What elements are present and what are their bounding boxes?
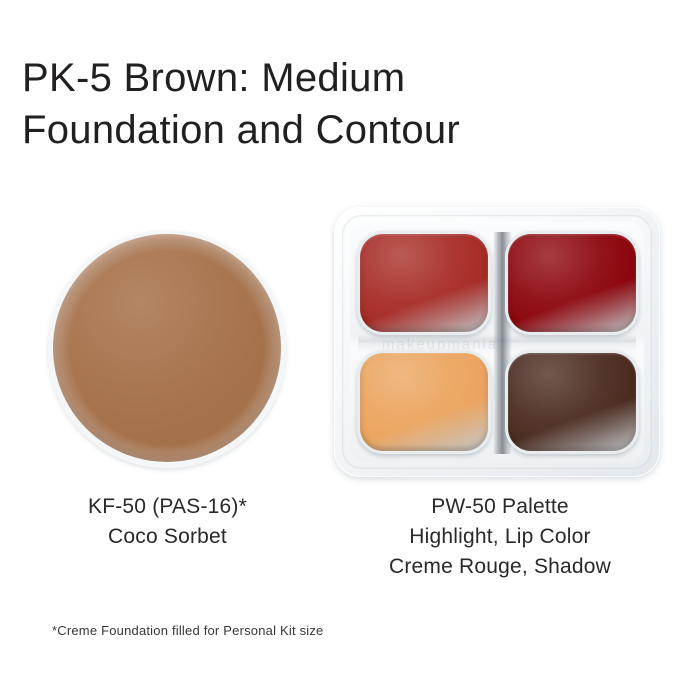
footnote: *Creme Foundation filled for Personal Ki… [52,623,324,638]
foundation-pan-product [53,234,281,462]
palette-pan-shadow [505,350,639,454]
palette-pan-color-top-right [508,234,636,332]
palette-pan-lip-color [505,231,639,335]
palette-caption-line-2: Highlight, Lip Color [330,522,670,552]
palette-caption-line-1: PW-50 Palette [330,492,670,522]
palette-pan-color-bottom-right [508,353,636,451]
palette-pan-color-top-left [360,234,488,332]
product-info-card: PK-5 Brown: Medium Foundation and Contou… [0,0,679,679]
foundation-pan-image [48,230,286,468]
foundation-caption-line-2: Coco Sorbet [10,522,325,552]
palette-tray: makeupmania [350,222,644,462]
palette-pan-highlight [357,350,491,454]
product-images-row: makeupmania [0,200,679,480]
foundation-caption: KF-50 (PAS-16)* Coco Sorbet [10,492,325,552]
palette-pan-color-bottom-left [360,353,488,451]
palette-image: makeupmania [334,207,660,477]
page-title-line-2: Foundation and Contour [22,104,642,156]
palette-caption-line-3: Creme Rouge, Shadow [330,552,670,582]
page-title: PK-5 Brown: Medium Foundation and Contou… [22,52,642,156]
foundation-caption-line-1: KF-50 (PAS-16)* [10,492,325,522]
palette-caption: PW-50 Palette Highlight, Lip Color Creme… [330,492,670,582]
page-title-line-1: PK-5 Brown: Medium [22,52,642,104]
palette-pan-creme-rouge [357,231,491,335]
